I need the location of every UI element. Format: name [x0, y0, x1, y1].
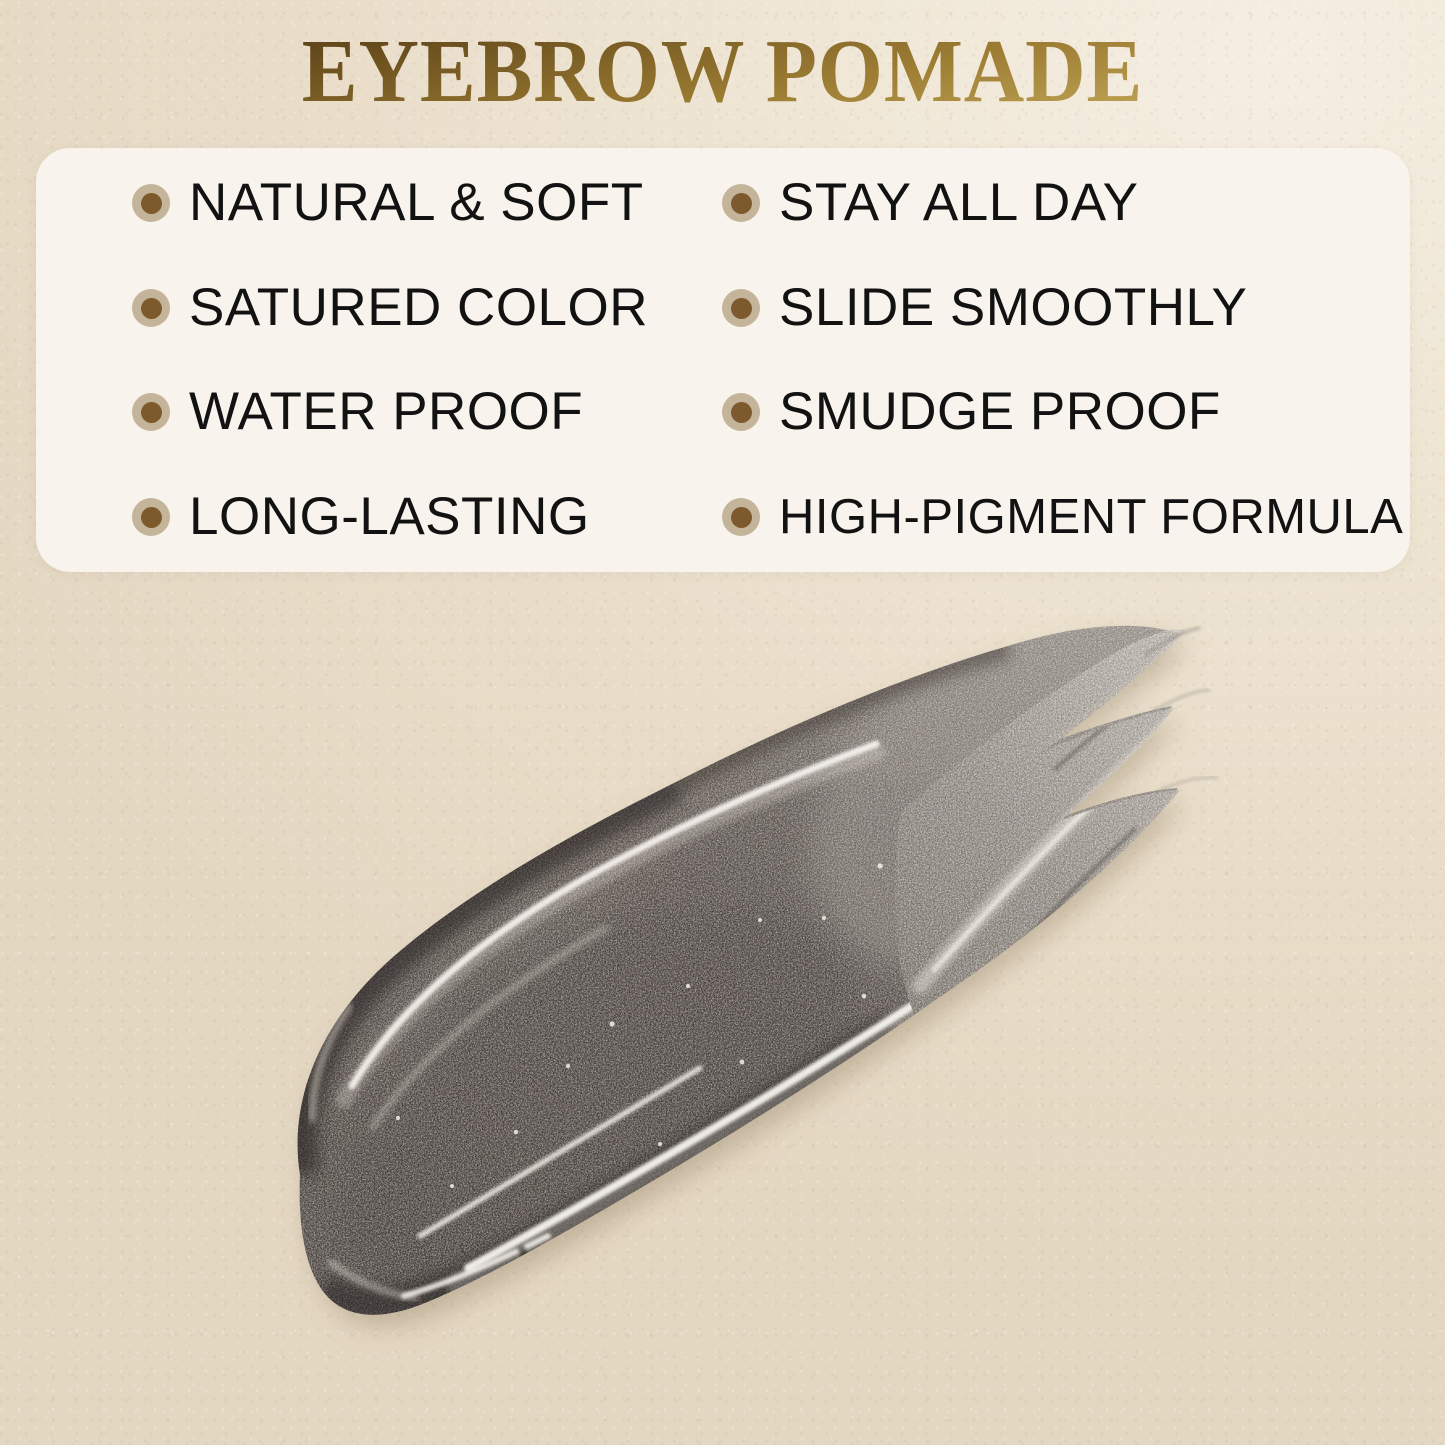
bullet-dot-icon — [132, 393, 170, 431]
swatch-highlight-bottom-flick-2 — [330, 1262, 416, 1298]
feature-item: LONG-LASTING — [132, 487, 590, 547]
bullet-dot-icon — [132, 289, 170, 327]
swatch-notch-highlight — [536, 1252, 556, 1290]
swatch-tip-wisps — [1144, 628, 1218, 790]
swatch-tail-striation-1 — [966, 828, 1136, 1002]
swatch-notch-shadow — [520, 1244, 566, 1298]
feature-item: SLIDE SMOOTHLY — [722, 278, 1247, 338]
bullet-dot-icon — [132, 498, 170, 536]
feature-label: SATURED COLOR — [189, 280, 648, 336]
swatch-highlight-left-rim — [312, 1006, 350, 1120]
swatch-highlight-upper-fold — [352, 744, 876, 1086]
feature-card: NATURAL & SOFT SATURED COLOR WATER PROOF… — [36, 148, 1410, 572]
bullet-dot-icon — [722, 393, 760, 431]
bullet-dot-icon — [132, 184, 170, 222]
bullet-dot-icon — [722, 498, 760, 536]
feature-item: SMUDGE PROOF — [722, 382, 1221, 442]
swatch-core-shadow — [261, 815, 938, 1424]
swatch-highlight-lower-ridge — [468, 946, 1002, 1268]
swatch-lower-rim-shadow — [322, 1030, 892, 1305]
bullet-dot-icon — [722, 184, 760, 222]
swatch-tail — [860, 600, 1220, 1040]
feature-label: WATER PROOF — [189, 384, 583, 440]
feature-item: SATURED COLOR — [132, 278, 648, 338]
swatch-highlight-lower-ridge-glow — [456, 958, 998, 1284]
swatch-smear-body — [298, 626, 1180, 1315]
swatch-shimmer-coarse — [280, 600, 1210, 1340]
swatch-top-ridge-shadow — [676, 646, 1008, 782]
feature-label: HIGH-PIGMENT FORMULA — [779, 489, 1403, 545]
feature-item: WATER PROOF — [132, 382, 583, 442]
swatch-sparkles — [396, 760, 1008, 1188]
swatch-highlight-mid-ridge — [420, 1068, 700, 1236]
bullet-dot-icon — [722, 289, 760, 327]
swatch-sheer-region — [740, 527, 1300, 1053]
feature-label: SLIDE SMOOTHLY — [779, 280, 1247, 336]
swatch-highlight-upper-fold-glow — [344, 752, 878, 1100]
product-image-canvas: EYEBROW POMADE NATURAL & SOFT SATURED CO… — [0, 0, 1445, 1445]
swatch-tail-highlight — [920, 718, 1180, 986]
feature-label: SMUDGE PROOF — [779, 384, 1221, 440]
swatch-shimmer-fine — [280, 600, 1210, 1340]
swatch-highlight-bottom-flick-1 — [404, 1236, 548, 1296]
swatch-tail-striation-3 — [1054, 682, 1166, 770]
feature-label: STAY ALL DAY — [779, 175, 1139, 231]
feature-label: LONG-LASTING — [189, 489, 590, 545]
swatch-inner-rim-shadow — [298, 782, 676, 1175]
feature-label: NATURAL & SOFT — [189, 175, 644, 231]
feature-item: NATURAL & SOFT — [132, 173, 644, 233]
swatch-core-shadow-2 — [489, 698, 1072, 1222]
feature-column-right: STAY ALL DAY SLIDE SMOOTHLY SMUDGE PROOF… — [722, 148, 1422, 572]
page-title: EYEBROW POMADE — [51, 22, 1395, 122]
swatch-highlight-secondary-fold — [372, 928, 606, 1128]
swatch-grain — [280, 600, 1210, 1340]
feature-column-left: NATURAL & SOFT SATURED COLOR WATER PROOF… — [132, 148, 692, 572]
swatch-tail-highlight-core — [934, 798, 1098, 970]
feature-item: HIGH-PIGMENT FORMULA — [722, 487, 1403, 547]
feature-item: STAY ALL DAY — [722, 173, 1139, 233]
swatch-tail-striation-2 — [996, 854, 1158, 1016]
